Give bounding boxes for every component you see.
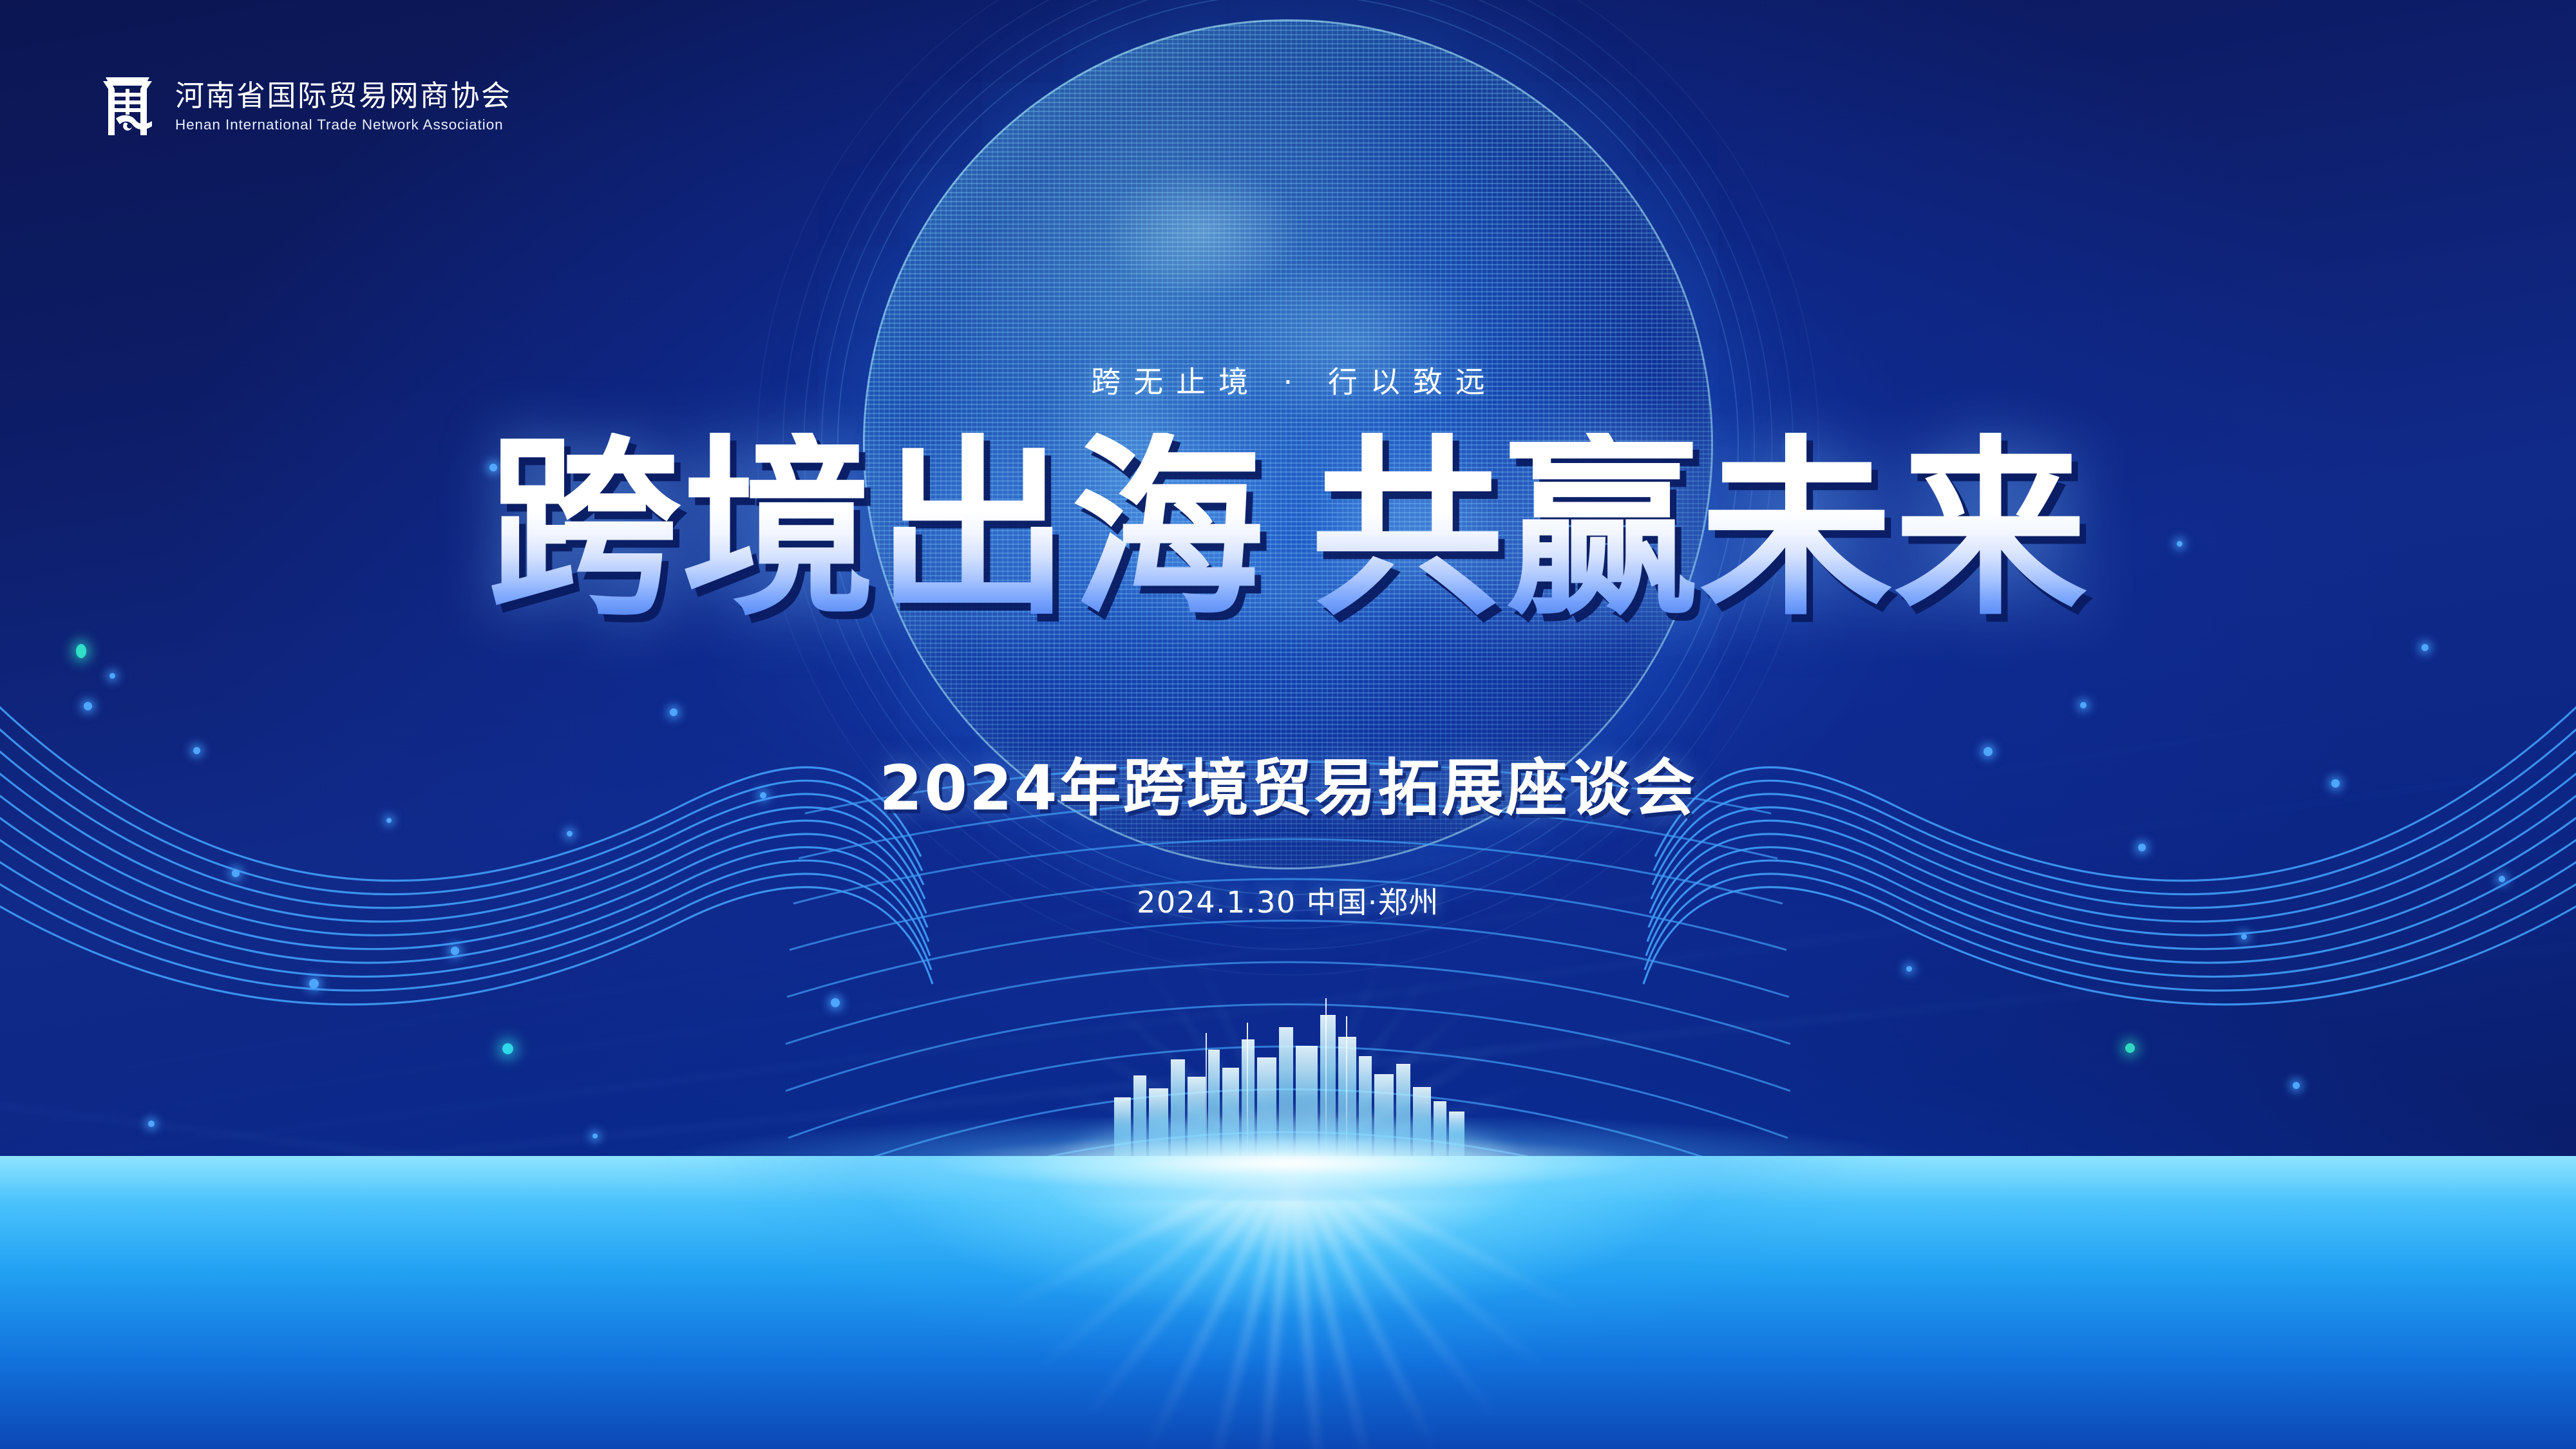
glow-particle [309, 979, 319, 989]
glow-particle [109, 673, 115, 679]
logo-text-block: 河南省国际贸易网商协会 Henan International Trade Ne… [175, 80, 512, 133]
hero-date-location: 2024.1.30 中国·郑州 [0, 879, 2576, 922]
glow-particle [1984, 747, 1993, 756]
glow-particle [193, 747, 200, 754]
glow-particle [1906, 966, 1912, 972]
logo-name-en: Henan International Trade Network Associ… [175, 117, 512, 133]
hero-title: 跨境出海共赢未来 [0, 433, 2576, 626]
glow-particle [2125, 1043, 2135, 1053]
hero-subtitle: 2024年跨境贸易拓展座谈会 [0, 757, 2576, 819]
glow-particle [451, 947, 459, 955]
poster-canvas: 河南省国际贸易网商协会 Henan International Trade Ne… [0, 0, 2576, 1449]
glow-particle [567, 831, 573, 837]
horizon-glow [0, 1117, 2576, 1201]
glow-particle [2080, 702, 2087, 708]
henan-seal-emblem-icon [97, 72, 158, 142]
glow-particle [502, 1043, 513, 1054]
glow-particle [2421, 644, 2429, 651]
hero-title-part1: 跨境出海 [488, 433, 1265, 626]
logo-name-cn: 河南省国际贸易网商协会 [175, 80, 512, 111]
glow-particle [2241, 934, 2247, 940]
glow-particle [2138, 844, 2146, 851]
glow-particle [84, 702, 92, 710]
hero-title-part2: 共赢未来 [1311, 433, 2088, 626]
glow-particle [232, 869, 240, 877]
glow-particle [2293, 1082, 2300, 1089]
hero-tagline: 跨无止境 · 行以致远 [0, 359, 2576, 401]
glow-particle [76, 644, 86, 658]
association-logo[interactable]: 河南省国际贸易网商协会 Henan International Trade Ne… [97, 72, 512, 142]
glow-particle [670, 708, 677, 716]
